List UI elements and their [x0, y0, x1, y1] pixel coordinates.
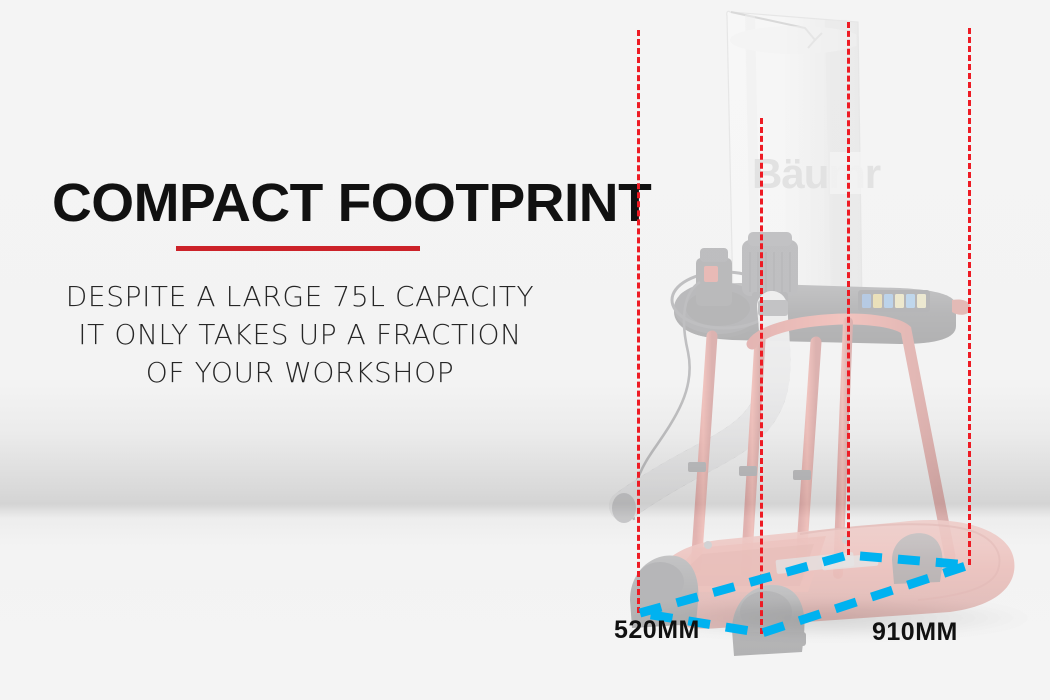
title-underline-rule	[176, 246, 420, 251]
compact-footprint-banner: COMPACT FOOTPRINT DESPITE A LARGE 75L CA…	[0, 0, 1050, 700]
dimension-label-width: 910MM	[872, 618, 958, 647]
footprint-outline	[600, 0, 1050, 700]
dimension-overlay: 520MM 910MM	[600, 0, 1050, 700]
product-panel: Bäumr	[600, 0, 1050, 700]
page-title: COMPACT FOOTPRINT	[52, 176, 582, 230]
subtext-line-3: OF YOUR WORKSHOP	[0, 354, 600, 392]
copy-panel: COMPACT FOOTPRINT DESPITE A LARGE 75L CA…	[0, 0, 600, 700]
dimension-label-depth: 520MM	[614, 616, 700, 645]
subtext-block: DESPITE A LARGE 75L CAPACITY IT ONLY TAK…	[0, 278, 600, 392]
subtext-line-2: IT ONLY TAKES UP A FRACTION	[0, 316, 600, 354]
subtext-line-1: DESPITE A LARGE 75L CAPACITY	[0, 278, 600, 316]
